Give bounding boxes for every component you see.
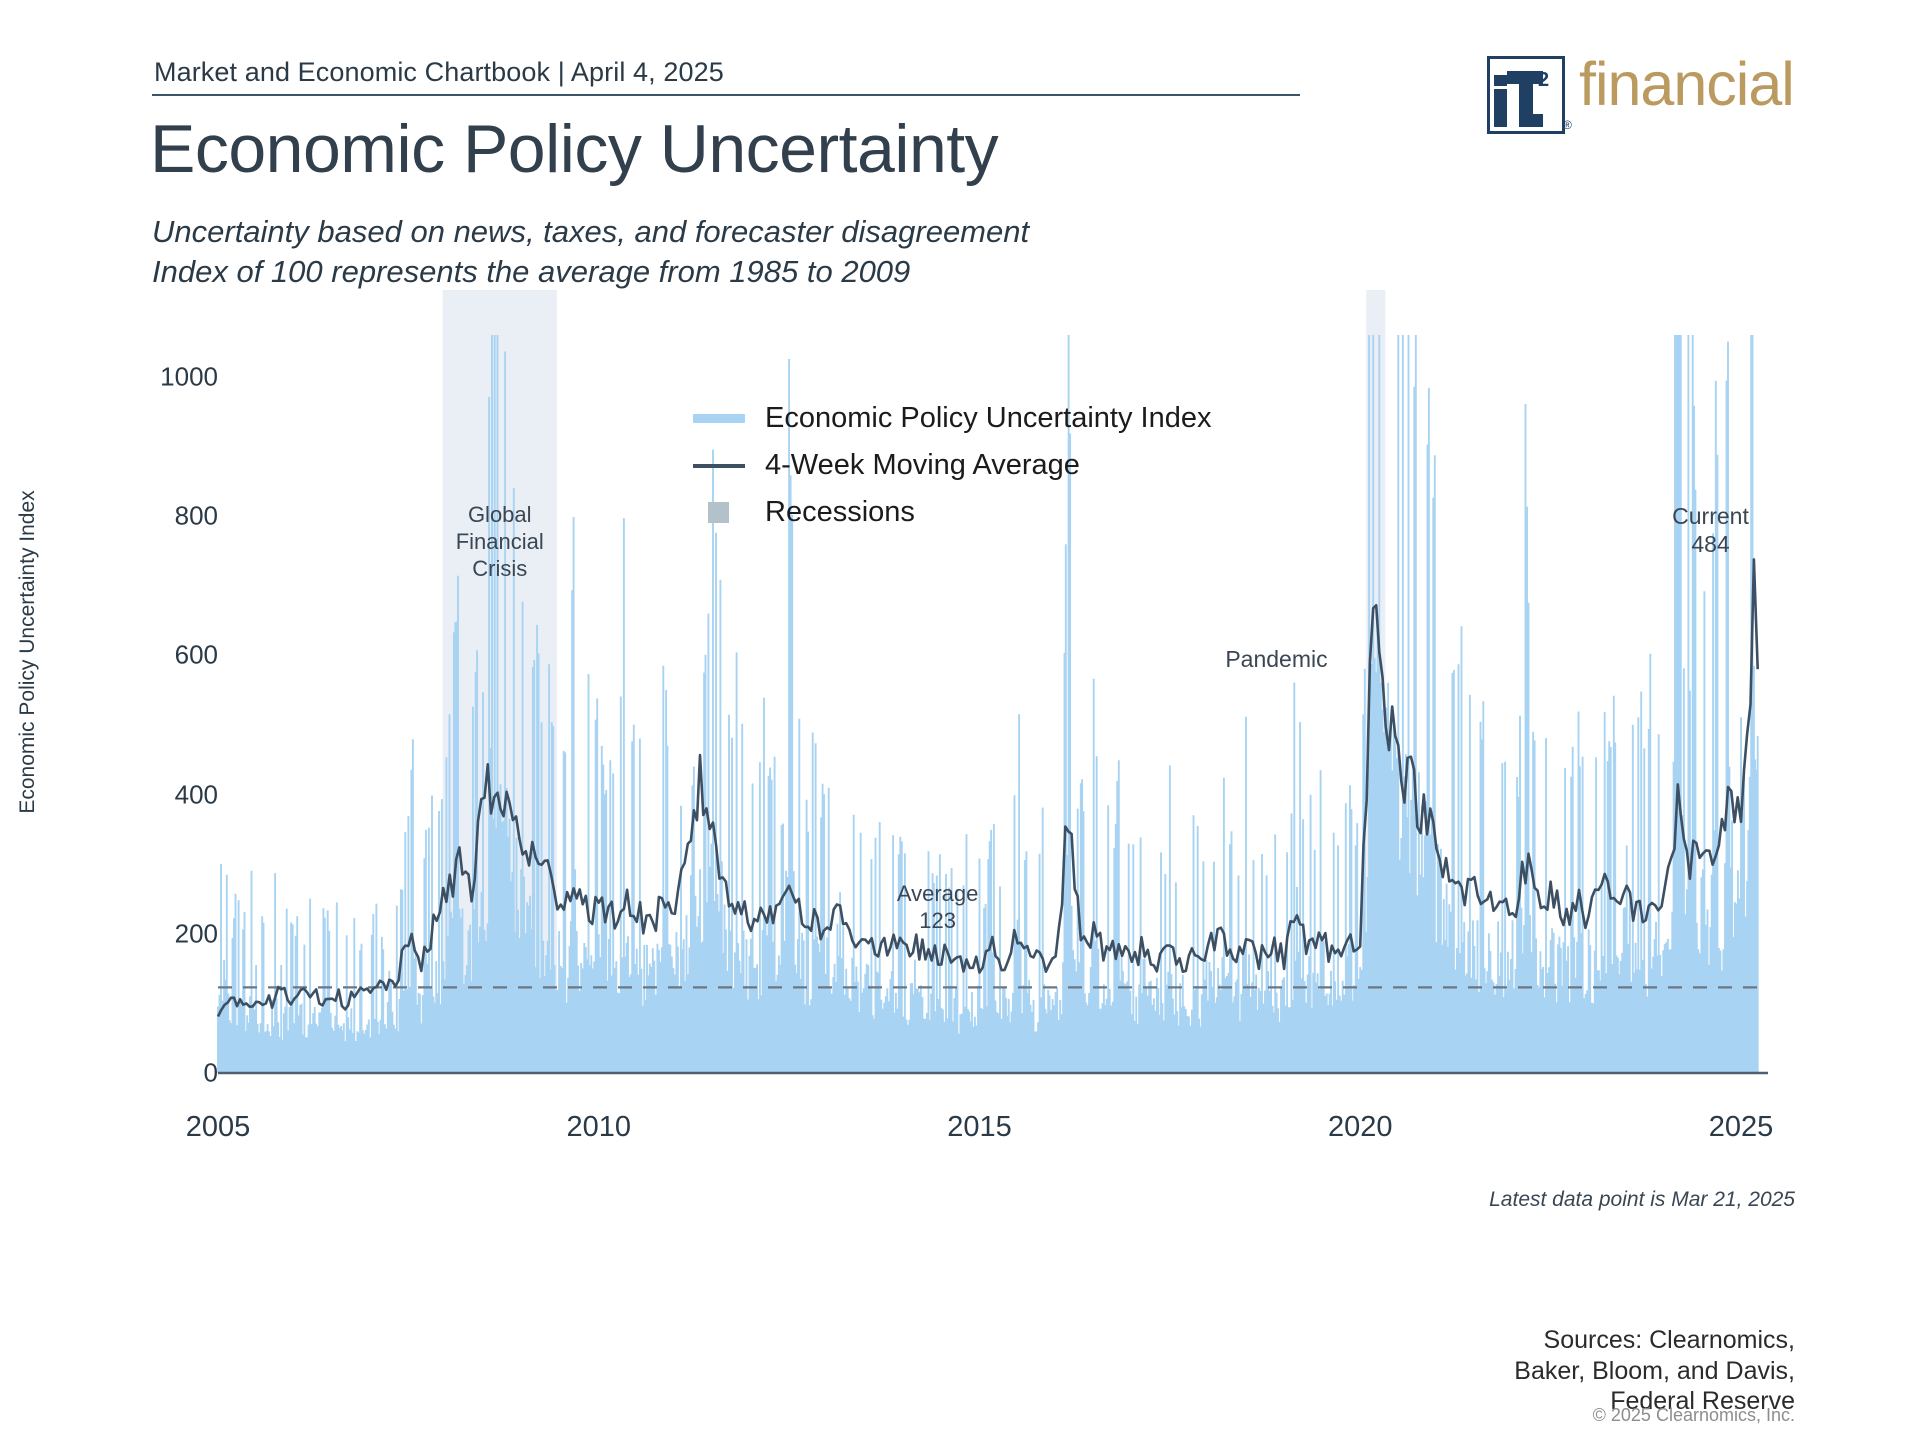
legend-key-moving-average-icon	[690, 464, 747, 468]
legend-item-index: Economic Policy Uncertainty Index	[690, 395, 1211, 442]
legend-label-moving-average: 4-Week Moving Average	[765, 449, 1080, 482]
latest-data-point: Latest data point is Mar 21, 2025	[1489, 1188, 1795, 1212]
legend-item-moving-average: 4-Week Moving Average	[690, 442, 1211, 489]
legend-item-recessions: Recessions	[690, 489, 1211, 536]
annotation-pandemic: Pandemic	[1166, 645, 1386, 673]
plot-area	[0, 0, 1920, 1440]
chart-legend: Economic Policy Uncertainty Index 4-Week…	[690, 395, 1211, 536]
sources-note: Sources: Clearnomics, Baker, Bloom, and …	[1514, 1325, 1795, 1417]
copyright-note: © 2025 Clearnomics, Inc.	[1593, 1405, 1795, 1426]
legend-label-recessions: Recessions	[765, 496, 915, 529]
legend-key-index-icon	[690, 414, 747, 423]
annotation-global: Global Financial Crisis	[390, 502, 610, 582]
annotation-current: Current 484	[1601, 502, 1821, 558]
legend-label-index: Economic Policy Uncertainty Index	[765, 402, 1211, 435]
legend-key-recessions-icon	[690, 502, 747, 523]
epu-chart: Economic Policy Uncertainty Index 020040…	[0, 0, 1920, 1440]
chart-slide: Market and Economic Chartbook | April 4,…	[0, 0, 1920, 1440]
annotation-average: Average 123	[828, 881, 1048, 935]
